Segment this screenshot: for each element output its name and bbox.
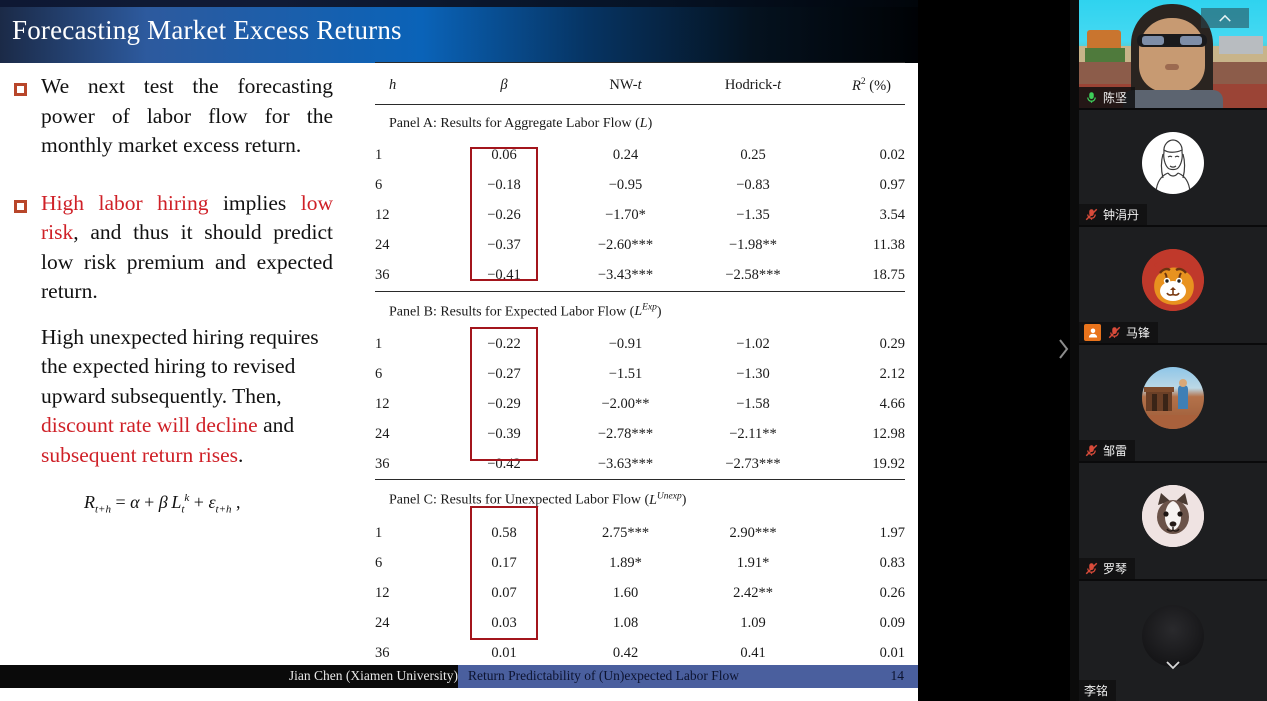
cell-h: 6	[375, 171, 445, 201]
body-phrase: and	[258, 413, 294, 437]
presentation-slide: Forecasting Market Excess Returns We nex…	[0, 0, 918, 701]
cell-nw-t: 2.75***	[563, 518, 688, 548]
panel-label: Panel A: Results for Aggregate Labor Flo…	[375, 104, 905, 141]
cell-nw-t: 1.89*	[563, 548, 688, 578]
bullet-text-3: High unexpected hiring requires the expe…	[41, 323, 333, 471]
cell-hodrick-t: −2.11**	[688, 419, 818, 449]
table-row: 10.060.240.250.02	[375, 141, 905, 171]
microphone-on-icon	[1084, 90, 1099, 105]
bullet-text-1: We next test the forecasting power of la…	[41, 72, 333, 161]
cell-h: 1	[375, 141, 445, 171]
body-phrase: .	[238, 443, 243, 467]
cell-nw-t: −2.78***	[563, 419, 688, 449]
slide-footer: Jian Chen (Xiamen University) Return Pre…	[0, 665, 918, 688]
highlighted-phrase: discount rate will decline	[41, 413, 258, 437]
cell-hodrick-t: −0.83	[688, 171, 818, 201]
panel-header-row: Panel B: Results for Expected Labor Flow…	[375, 291, 905, 329]
highlighted-phrase: High labor hiring	[41, 191, 208, 215]
cell-hodrick-t: 1.09	[688, 608, 818, 638]
cell-beta: −0.41	[445, 261, 563, 292]
participant-name-chip: 钟涓丹	[1079, 204, 1147, 225]
body-phrase: High unexpected hiring requires the expe…	[41, 325, 319, 408]
cell-h: 36	[375, 261, 445, 292]
participant-tile[interactable]: 马锋	[1079, 225, 1267, 343]
cell-r2: 1.97	[818, 518, 905, 548]
cell-h: 12	[375, 389, 445, 419]
cell-beta: 0.17	[445, 548, 563, 578]
footer-title-panel: Return Predictability of (Un)expected La…	[458, 665, 918, 688]
avatar	[1142, 249, 1204, 311]
panel-label: Panel C: Results for Unexpected Labor Fl…	[375, 480, 905, 518]
bullet-square-icon	[14, 200, 27, 213]
cell-nw-t: −3.43***	[563, 261, 688, 292]
cell-nw-t: −0.91	[563, 329, 688, 359]
cell-beta: 0.06	[445, 141, 563, 171]
cell-hodrick-t: 2.90***	[688, 518, 818, 548]
avatar	[1142, 485, 1204, 547]
cell-r2: 3.54	[818, 201, 905, 231]
cell-hodrick-t: −1.98**	[688, 231, 818, 261]
cell-hodrick-t: −2.73***	[688, 449, 818, 480]
cell-r2: 4.66	[818, 389, 905, 419]
table-row: 1−0.22−0.91−1.020.29	[375, 329, 905, 359]
cell-h: 24	[375, 608, 445, 638]
microphone-muted-icon	[1084, 207, 1099, 222]
participant-name-chip: 邹雷	[1079, 440, 1135, 461]
cell-beta: −0.22	[445, 329, 563, 359]
participant-tile[interactable]: 钟涓丹	[1079, 108, 1267, 225]
cell-h: 24	[375, 231, 445, 261]
participant-tile[interactable]: 罗琴	[1079, 461, 1267, 579]
cell-nw-t: 1.08	[563, 608, 688, 638]
host-badge-icon	[1084, 324, 1101, 341]
participant-tile[interactable]: 邹雷	[1079, 343, 1267, 461]
slide-bottom-margin	[0, 688, 918, 701]
col-header-h: h	[375, 63, 445, 105]
participant-name: 陈坚	[1103, 89, 1127, 106]
bullet-square-icon	[14, 83, 27, 96]
results-table: h β NW-t Hodrick-t R2 (%) Panel A: Resul…	[375, 62, 905, 669]
participant-filmstrip[interactable]: 陈坚 钟涓丹 马锋	[1079, 0, 1267, 701]
cell-nw-t: 1.60	[563, 578, 688, 608]
table-row: 240.031.081.090.09	[375, 608, 905, 638]
bullet-item-2: High labor hiring implies low risk, and …	[14, 189, 362, 307]
participant-name: 李铭	[1084, 682, 1108, 699]
col-header-r2: R2 (%)	[818, 63, 905, 105]
participant-name-chip: 罗琴	[1079, 558, 1135, 579]
highlighted-phrase: subsequent return rises	[41, 443, 238, 467]
col-header-beta: β	[445, 63, 563, 105]
slide-title-band: Forecasting Market Excess Returns	[0, 0, 918, 63]
avatar	[1142, 367, 1204, 429]
cell-hodrick-t: −1.58	[688, 389, 818, 419]
cell-hodrick-t: −1.02	[688, 329, 818, 359]
table-row: 36−0.41−3.43***−2.58***18.75	[375, 261, 905, 292]
participant-name-chip: 马锋	[1079, 322, 1158, 343]
cell-beta: −0.27	[445, 359, 563, 389]
cell-r2: 0.26	[818, 578, 905, 608]
cell-beta: −0.42	[445, 449, 563, 480]
cell-nw-t: 0.24	[563, 141, 688, 171]
table-row: 24−0.39−2.78***−2.11**12.98	[375, 419, 905, 449]
body-phrase: implies	[208, 191, 300, 215]
participant-name-chip: 李铭	[1079, 680, 1116, 701]
col-header-hodrick-t: Hodrick-t	[688, 63, 818, 105]
cell-beta: −0.39	[445, 419, 563, 449]
cell-hodrick-t: 1.91*	[688, 548, 818, 578]
cell-hodrick-t: −1.30	[688, 359, 818, 389]
table-row: 10.582.75***2.90***1.97	[375, 518, 905, 548]
avatar	[1142, 132, 1204, 194]
shared-screen-region: Forecasting Market Excess Returns We nex…	[0, 0, 1070, 701]
footer-page-number: 14	[891, 668, 905, 684]
cell-beta: 0.58	[445, 518, 563, 548]
microphone-muted-icon	[1107, 325, 1122, 340]
cell-r2: 0.02	[818, 141, 905, 171]
cell-nw-t: −1.70*	[563, 201, 688, 231]
panel-header-row: Panel A: Results for Aggregate Labor Flo…	[375, 104, 905, 141]
body-phrase: We next test the forecasting power of la…	[41, 74, 333, 157]
microphone-muted-icon	[1084, 443, 1099, 458]
cell-h: 12	[375, 578, 445, 608]
results-table-container: h β NW-t Hodrick-t R2 (%) Panel A: Resul…	[375, 62, 905, 669]
slide-text-column: We next test the forecasting power of la…	[14, 72, 362, 516]
cell-hodrick-t: 0.25	[688, 141, 818, 171]
cell-nw-t: −2.00**	[563, 389, 688, 419]
cell-r2: 0.29	[818, 329, 905, 359]
bullet-text-2: High labor hiring implies low risk, and …	[41, 189, 333, 307]
results-table-body: Panel A: Results for Aggregate Labor Flo…	[375, 104, 905, 668]
participant-name: 邹雷	[1103, 442, 1127, 459]
footer-author: Jian Chen (Xiamen University)	[289, 668, 458, 684]
cell-hodrick-t: −1.35	[688, 201, 818, 231]
cell-r2: 18.75	[818, 261, 905, 292]
table-row: 6−0.27−1.51−1.302.12	[375, 359, 905, 389]
expand-panel-chevron-right-icon[interactable]	[1057, 336, 1070, 362]
cell-r2: 19.92	[818, 449, 905, 480]
zoom-meeting-window: Forecasting Market Excess Returns We nex…	[0, 0, 1267, 701]
table-row: 24−0.37−2.60***−1.98**11.38	[375, 231, 905, 261]
panel-header-row: Panel C: Results for Unexpected Labor Fl…	[375, 480, 905, 518]
cell-r2: 0.83	[818, 548, 905, 578]
panel-label: Panel B: Results for Expected Labor Flow…	[375, 291, 905, 329]
table-row: 12−0.29−2.00**−1.584.66	[375, 389, 905, 419]
cell-h: 1	[375, 518, 445, 548]
participant-tile[interactable]: 陈坚	[1079, 0, 1267, 108]
cell-r2: 11.38	[818, 231, 905, 261]
cell-r2: 0.09	[818, 608, 905, 638]
table-row: 120.071.602.42**0.26	[375, 578, 905, 608]
cell-h: 12	[375, 201, 445, 231]
bullet-item-3: High unexpected hiring requires the expe…	[14, 323, 362, 471]
cell-r2: 12.98	[818, 419, 905, 449]
participant-name: 罗琴	[1103, 560, 1127, 577]
page-title: Forecasting Market Excess Returns	[12, 15, 402, 46]
table-row: 6−0.18−0.95−0.830.97	[375, 171, 905, 201]
cell-beta: 0.07	[445, 578, 563, 608]
cell-h: 1	[375, 329, 445, 359]
cell-r2: 2.12	[818, 359, 905, 389]
cell-nw-t: −0.95	[563, 171, 688, 201]
footer-paper-title: Return Predictability of (Un)expected La…	[468, 668, 739, 684]
cell-h: 36	[375, 449, 445, 480]
cell-nw-t: −2.60***	[563, 231, 688, 261]
collapse-chevron-up-icon[interactable]	[1201, 8, 1249, 28]
table-row: 36−0.42−3.63***−2.73***19.92	[375, 449, 905, 480]
cell-beta: −0.18	[445, 171, 563, 201]
participant-name: 钟涓丹	[1103, 206, 1139, 223]
cell-hodrick-t: 2.42**	[688, 578, 818, 608]
cell-nw-t: −3.63***	[563, 449, 688, 480]
cell-beta: −0.29	[445, 389, 563, 419]
cell-nw-t: −1.51	[563, 359, 688, 389]
cell-r2: 0.97	[818, 171, 905, 201]
bullet-item-1: We next test the forecasting power of la…	[14, 72, 362, 161]
col-header-nw-t: NW-t	[563, 63, 688, 105]
participant-name-chip: 陈坚	[1079, 87, 1135, 108]
scroll-down-chevron-icon[interactable]	[1165, 658, 1181, 673]
cell-hodrick-t: −2.58***	[688, 261, 818, 292]
regression-formula: Rt+h = α + β Ltk + εt+h ,	[84, 492, 362, 516]
cell-h: 6	[375, 359, 445, 389]
microphone-muted-icon	[1084, 561, 1099, 576]
participant-name: 马锋	[1126, 324, 1150, 341]
body-phrase: , and thus it should predict low risk pr…	[41, 220, 333, 303]
table-header-row: h β NW-t Hodrick-t R2 (%)	[375, 63, 905, 105]
table-row: 12−0.26−1.70*−1.353.54	[375, 201, 905, 231]
cell-h: 24	[375, 419, 445, 449]
cell-beta: −0.26	[445, 201, 563, 231]
cell-beta: 0.03	[445, 608, 563, 638]
table-row: 60.171.89*1.91*0.83	[375, 548, 905, 578]
cell-h: 6	[375, 548, 445, 578]
participant-tile[interactable]: 李铭	[1079, 579, 1267, 701]
cell-beta: −0.37	[445, 231, 563, 261]
